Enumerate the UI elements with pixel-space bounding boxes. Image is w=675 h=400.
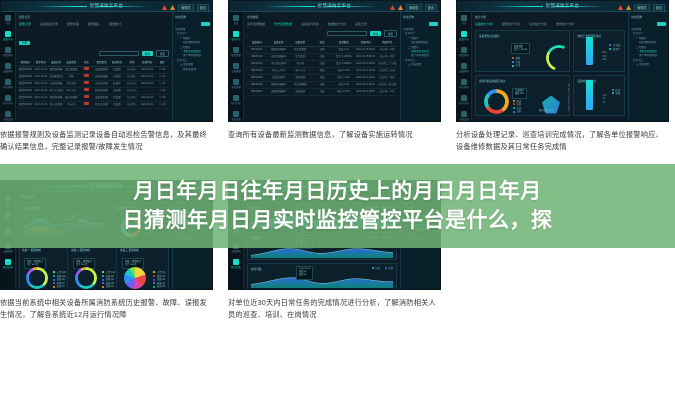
cell: 2021-03-15 08:21	[356, 61, 376, 67]
col-0: 设备编号	[247, 40, 267, 46]
col-6: 所属单位	[377, 40, 397, 46]
legend-swatch	[53, 279, 55, 281]
col-1: 发生时间	[34, 60, 47, 66]
cell: 2021-03-11 10:45	[141, 74, 154, 80]
donut-chart	[75, 267, 97, 289]
cell: 2021-03-13 16:18	[141, 102, 154, 108]
table-row[interactable]: SB000001 烟感探测器01 独立式烟感 在线 浓度 0.12 2021-0…	[247, 47, 397, 54]
sidebar-item-2[interactable]: 报警管理	[230, 47, 243, 57]
tab-3[interactable]: 报警确认	[88, 22, 100, 26]
area-chart	[251, 275, 393, 288]
cell: 2021-03-15 08:20	[356, 47, 376, 53]
cell: 2021-03-12 09:12	[141, 81, 154, 87]
card-caption: 分析设备处理记录、巡查培训完成情况，了解各单位报警响应、设备维修数据及其日常任务…	[456, 129, 669, 152]
donut-legend: 火警 182 故障 118 误报 96 屏蔽 52 监管 34	[53, 271, 66, 289]
status-pill	[84, 81, 89, 84]
cell: 2021-03-11 10:21	[141, 67, 154, 73]
bar-legend: 在线 离线	[612, 89, 620, 96]
cell: 压力 0.42MPa	[334, 54, 354, 60]
cell: 电流 0.00A	[334, 68, 354, 74]
sidebar-item-4[interactable]: 单位管理	[2, 79, 15, 89]
legend-swatch	[609, 48, 611, 50]
screenshot-alarm-rules: 智慧消防云平台 管理员 退出 首页 监控中心 报警管理 设备管理 单位管理 统计…	[0, 0, 213, 122]
breadcrumb: 统计分析	[475, 15, 625, 19]
table-row[interactable]: SB000003 消火栓监测03 消火栓 在线 压力 0.38MPa 2021-…	[247, 61, 397, 68]
sidebar-item-2[interactable]: 报警管理	[458, 47, 471, 57]
legend-swatch	[153, 286, 155, 288]
sidebar-item-1[interactable]: 监控中心	[458, 31, 471, 41]
screenshot-statistics: 智慧消防云平台 管理员 退出 首页 监控中心 报警管理 设备管理 单位管理 统计…	[456, 0, 669, 122]
pie-legend: 火警 96 故障 62 误报 48 屏蔽 34 监管 28	[153, 271, 165, 289]
legend-swatch	[513, 103, 515, 105]
status-pill	[84, 67, 89, 70]
search-button[interactable]: 搜索	[142, 51, 153, 56]
article-card-alarm-rules: 智慧消防云平台 管理员 退出 首页 监控中心 报警管理 设备管理 单位管理 统计…	[0, 0, 213, 172]
panel-title: 设备类型占比统计	[479, 34, 566, 38]
sidebar-item-3[interactable]: 设备管理	[2, 63, 15, 73]
tab-bar[interactable]: 报警记录 设备巡检记录 报警处理 报警确认 报警统计	[19, 22, 169, 26]
sidebar-item-2[interactable]: 报警管理	[2, 47, 15, 57]
home-icon	[233, 15, 239, 21]
cell: 温度监测	[290, 89, 310, 95]
breadcrumb: 报警记录	[19, 15, 169, 19]
gear-icon	[233, 111, 239, 117]
table-row[interactable]: SB000004 电气火灾04 电气火灾 离线 电流 0.00A 2021-03…	[247, 68, 397, 75]
alarm-table: 报警编号 发生时间 设备名称 设备类型 状态 报警类型 处理状态 单位 处理时间…	[19, 60, 169, 109]
tree-expand-button[interactable]	[201, 22, 210, 26]
legend-swatch	[53, 275, 55, 277]
cell: 独立式烟感	[290, 47, 310, 53]
legend-swatch	[53, 271, 55, 273]
tab-2[interactable]: 报警处理	[67, 22, 79, 26]
status-pill	[84, 102, 89, 105]
cell: 分公司三 泵房	[377, 75, 397, 81]
sidebar-item-6[interactable]: 系统设置	[230, 111, 243, 121]
warning-triangle-icon[interactable]	[398, 5, 403, 10]
tab-bar[interactable]: 实时监测数据 历史监测数据 设备运行状态 数据统计分析 采集日志	[247, 22, 397, 26]
tree-panel-header: 单位结构	[175, 15, 210, 19]
col-8: 处理时间	[141, 60, 154, 66]
legend-swatch	[102, 286, 104, 288]
sidebar-item-5[interactable]: 统计分析	[2, 95, 15, 105]
col-3: 设备类型	[65, 60, 78, 66]
topbar-chip-user[interactable]: 管理员	[634, 4, 650, 12]
panel-system-breakdown: 系统一 报警构成 系统一 报警统计 合计 482 次 火警 182 故障 118…	[19, 245, 169, 290]
status-badge	[80, 81, 93, 87]
tree-panel-title: 单位结构	[175, 15, 186, 19]
headline-overlay-band: 月日年月日往年月日历史上的月日月日年月 日猜测年月日月实时监控管控平台是什么，探	[0, 164, 675, 248]
cell: 2021-03-15 08:20	[356, 54, 376, 60]
tab-0[interactable]: 报警记录	[19, 22, 31, 26]
cell: 2021-03-12	[34, 81, 47, 87]
table-row[interactable]: 报警000005 2021-03-13 烟感探测器 独立式烟感 设备通讯故障 已…	[19, 95, 169, 102]
alarm-triangle-icon[interactable]	[390, 5, 395, 10]
cell: 报警000006	[19, 102, 32, 108]
statistics-panel-grid: 设备类型占比统计 设备总数 合计 1,284 台 烟感 手报 水压	[475, 30, 625, 116]
unit-tree-panel: 单位结构 全部单位 分公司一 一号楼宇 A区消防控制室 二号楼宇 消防泵房监测点…	[628, 12, 668, 121]
search-toolbar: 搜索 重置	[19, 50, 169, 57]
cell: 压力监测	[290, 54, 310, 60]
cell: 消火栓监测	[49, 102, 62, 108]
panel-title: 维修工单处理量 统计	[577, 34, 621, 38]
tree-panel-title: 单位结构	[631, 15, 642, 19]
main-content: 监测数据 实时监测数据 历史监测数据 设备运行状态 数据统计分析 采集日志 查询…	[244, 12, 400, 121]
col-3: 状态	[312, 40, 332, 46]
tab-0[interactable]: 实时监测数据	[247, 22, 265, 26]
cell: 离线	[312, 68, 332, 74]
legend-swatch	[372, 267, 374, 269]
article-card-statistics: 智慧消防云平台 管理员 退出 首页 监控中心 报警管理 设备管理 单位管理 统计…	[456, 0, 669, 172]
legend-swatch	[612, 89, 614, 91]
table-row[interactable]: SB000002 水压传感器02 压力监测 在线 压力 0.42MPa 2021…	[247, 54, 397, 61]
gear-icon	[461, 111, 467, 117]
tab-1[interactable]: 设备巡检记录	[40, 22, 58, 26]
cell: 报警000004	[19, 88, 32, 94]
bell-icon	[5, 47, 11, 53]
legend-swatch	[153, 282, 155, 284]
cell: 设备离线报警	[95, 74, 108, 80]
cell: 已处理	[110, 67, 123, 73]
alarm-triangle-icon[interactable]	[618, 5, 623, 10]
sidebar-item-3[interactable]: 设备管理	[458, 63, 471, 73]
bar-axis-labels: 600 400 200	[602, 51, 606, 62]
legend-swatch	[612, 92, 614, 94]
legend-swatch	[512, 65, 514, 67]
tab-2[interactable]: 设备运行状态	[301, 22, 319, 26]
cell: 分公司二	[125, 81, 138, 87]
sidebar-item-0[interactable]: 首页	[458, 15, 471, 25]
subpanel-system-2: 系统二 报警构成 系统二 报警统计 合计 356 次 火警 142 故障 88 …	[71, 248, 117, 290]
chart-tooltip: 2021-03-15 应到 45 实到 43	[296, 266, 313, 280]
monitor-icon	[461, 31, 467, 37]
pie-chart	[484, 45, 508, 69]
cell: 2021-03-11	[34, 74, 47, 80]
card-caption: 查询所有设备最新监测数据信息，了解设备实施运转情况	[228, 129, 441, 141]
legend-swatch	[512, 57, 514, 59]
table-header-row: 设备编号 设备名称 设备类型 状态 监测数值 采集时间 所属单位	[247, 40, 397, 47]
table-row[interactable]: 报警000001 2021-03-11 烟感探测器 独立式烟感 设备故障报警 已…	[19, 67, 169, 74]
topbar-chip-user[interactable]: 管理员	[178, 4, 194, 12]
mini-chart-label-0: 联动设备 统计	[539, 109, 554, 113]
bar-legend: 已完成 处理中	[609, 44, 620, 51]
cell: 2021-03-13 14:05	[141, 95, 154, 101]
tree-panel-header: 单位结构	[631, 15, 666, 19]
cell: 已处理	[110, 95, 123, 101]
cell: 2021-03-15 08:21	[356, 68, 376, 74]
donut-chart	[484, 89, 509, 114]
cell: 手动报警按钮	[49, 74, 62, 80]
legend-swatch	[513, 111, 515, 113]
main-content: 报警记录 报警记录 设备巡检记录 报警处理 报警确认 报警统计 新增 搜索 重置…	[16, 12, 172, 121]
cell: SB000007	[247, 89, 267, 95]
table-row[interactable]: 报警000002 2021-03-11 手动报警按钮 手报 设备离线报警 已处理…	[19, 74, 169, 81]
topbar-chip-logout[interactable]: 退出	[653, 4, 665, 12]
home-icon	[5, 15, 11, 21]
tree-expand-button[interactable]	[429, 22, 438, 26]
panel-title: 系统三 报警构成	[120, 248, 166, 252]
search-input[interactable]	[99, 51, 139, 56]
sidebar-item-5[interactable]: 统计分析	[2, 259, 15, 269]
topbar-actions: 管理员 退出	[618, 4, 665, 12]
table-row[interactable]: 报警000004 2021-03-12 电气火灾探测 电气火灾 剩余电流报警 未…	[19, 88, 169, 95]
legend-swatch	[153, 271, 155, 273]
card-caption: 对单位近30天内日常任务的完成情况进行分析，了解消防相关人员的巡查、培训、在岗情…	[228, 297, 441, 320]
cell: 分公司三	[125, 95, 138, 101]
sidebar-item-6[interactable]: 系统设置	[2, 111, 15, 121]
cell	[141, 88, 154, 94]
chart-icon	[461, 95, 467, 101]
sidebar-nav[interactable]: 首页 监控中心 报警管理 设备管理 单位管理 统计分析 系统设置	[1, 12, 16, 121]
pie-chart	[124, 267, 146, 289]
cell: 在线	[312, 54, 332, 60]
sidebar-item-4[interactable]: 单位管理	[230, 79, 243, 89]
status-badge	[80, 88, 93, 94]
cell: 2021-03-15 08:23	[356, 89, 376, 95]
cell: 电气火灾	[290, 68, 310, 74]
col-0: 报警编号	[19, 60, 32, 66]
sidebar-item-6[interactable]: 系统设置	[458, 111, 471, 121]
breadcrumb: 监测数据	[247, 15, 397, 19]
cell: 设备故障报警	[95, 67, 108, 73]
cell: 分公司二 三号楼	[377, 61, 397, 67]
cell: 烟感探测器01	[269, 47, 289, 53]
sidebar-nav[interactable]: 首页 监控中心 报警管理 设备管理 单位管理 统计分析 系统设置	[229, 12, 244, 121]
status-badge	[80, 74, 93, 80]
table-row[interactable]: SB000007 温感探测器07 温度监测 在线 温度 24.6℃ 2021-0…	[247, 89, 397, 96]
cell: SB000006	[247, 82, 267, 88]
cell: 液位监测05	[269, 75, 289, 81]
reset-button[interactable]: 重置	[384, 30, 397, 37]
status-pill	[84, 95, 89, 98]
panel-repair-bar: 维修工单处理量 统计 600 400 200 已完成 处理中	[573, 30, 625, 72]
status-badge	[80, 102, 93, 108]
col-5: 采集时间	[356, 40, 376, 46]
col-2: 设备名称	[49, 60, 62, 66]
cell: 消火栓	[65, 102, 78, 108]
legend-swatch	[53, 286, 55, 288]
table-row[interactable]: 报警000003 2021-03-12 水压传感器 压力监测 水压异常报警 处理…	[19, 81, 169, 88]
bar-column	[586, 37, 593, 65]
tab-bar[interactable]: 设备统计分析 报警统计分析 任务统计分析 维修统计分析	[475, 22, 625, 26]
donut-legend: 火警 142 故障 88 误报 66 屏蔽 38 监管 22	[102, 271, 115, 289]
cell: 已处理	[110, 102, 123, 108]
panel-title: 系统二 报警构成	[71, 248, 116, 252]
cell: 在线	[312, 47, 332, 53]
monitor-icon	[233, 31, 239, 37]
cell: 未处理	[110, 88, 123, 94]
cell: 压力过低报警	[95, 102, 108, 108]
main-content: 统计分析 设备统计分析 报警统计分析 任务统计分析 维修统计分析 设备类型占比统…	[472, 12, 628, 121]
building-icon	[5, 79, 11, 85]
search-input[interactable]	[327, 31, 367, 36]
cell: 电气火灾探测	[49, 88, 62, 94]
col-9: 操作	[156, 60, 169, 66]
cell: 压力监测	[65, 81, 78, 87]
mini-chart-label-1: 值班人员在岗 统计	[568, 84, 570, 113]
app-topbar: 智慧消防云平台 管理员 退出	[1, 1, 212, 12]
sidebar-item-1[interactable]: 监控中心	[230, 31, 243, 41]
topbar-decor-left	[35, 6, 87, 7]
row-actions[interactable]: ✎ ⌫	[156, 74, 169, 80]
cell: 设备通讯故障	[95, 95, 108, 101]
sidebar-item-0[interactable]: 首页	[2, 15, 15, 25]
row-actions[interactable]: ✎ ⌫	[156, 95, 169, 101]
cell: 分公司一 C区	[377, 89, 397, 95]
device-icon	[233, 63, 239, 69]
tree-panel-header: 单位结构	[403, 15, 438, 19]
col-6: 处理状态	[110, 60, 123, 66]
cell: 2021-03-15 08:22	[356, 75, 376, 81]
table-header-row: 报警编号 发生时间 设备名称 设备类型 状态 报警类型 处理状态 单位 处理时间…	[19, 60, 169, 67]
tree-node[interactable]: 办公区监测	[175, 68, 210, 72]
tab-3[interactable]: 数据统计分析	[328, 22, 346, 26]
screenshot-device-monitoring: 智慧消防云平台 管理员 退出 首页 监控中心 报警管理 设备管理 单位管理 统计…	[228, 0, 441, 122]
cell: 处理中	[110, 81, 123, 87]
tree-expand-button[interactable]	[657, 22, 666, 26]
sidebar-item-0[interactable]: 首页	[230, 15, 243, 25]
col-4: 监测数值	[334, 40, 354, 46]
bell-icon	[461, 47, 467, 53]
app-topbar: 智慧消防云平台 管理员 退出	[457, 1, 668, 12]
app-title: 智慧消防云平台	[318, 3, 352, 9]
warning-triangle-icon[interactable]	[170, 5, 175, 10]
search-toolbar: 查询 重置	[247, 30, 397, 37]
topbar-decor-left	[491, 6, 543, 7]
cell: 在线	[312, 61, 332, 67]
topbar-chip-logout[interactable]: 退出	[197, 4, 209, 12]
cell: 在线	[312, 82, 332, 88]
topbar-actions: 管理员 退出	[162, 4, 209, 12]
row-actions[interactable]: ✎ ⌫	[156, 88, 169, 94]
legend-swatch	[53, 282, 55, 284]
cell: SB000004	[247, 68, 267, 74]
tab-0[interactable]: 设备统计分析	[475, 22, 493, 26]
panel-training-donut: 巡查培训完成情况 统计 完成情况 巡查 86% 巡查 培训 在岗 其他	[475, 75, 570, 117]
legend-swatch	[153, 279, 155, 281]
page-title: 月日年月日往年月日历史上的月日月日年月 日猜测年月日月实时监控管控平台是什么，探	[121, 177, 555, 235]
warning-triangle-icon[interactable]	[626, 5, 631, 10]
series-legend: 应到 实到	[372, 267, 393, 271]
legend-swatch	[102, 271, 104, 273]
row-actions[interactable]: ✎ ⌫	[156, 102, 169, 108]
sidebar-item-4[interactable]: 单位管理	[458, 79, 471, 89]
device-icon	[461, 63, 467, 69]
card-caption: 依据当前系统中相关设备所属消防系统历史报警、故障、误报发生情况，了解各系统近12…	[0, 297, 213, 320]
legend-swatch	[513, 100, 515, 102]
pie-legend: 烟感 手报 水压	[512, 57, 520, 68]
col-1: 设备名称	[269, 40, 289, 46]
tree-node[interactable]: 三号综合楼	[631, 63, 666, 67]
topbar-chip-user[interactable]: 管理员	[406, 4, 422, 12]
cell: 烟感探测器	[49, 67, 62, 73]
legend-swatch	[153, 275, 155, 277]
tab-1[interactable]: 报警统计分析	[502, 22, 520, 26]
panel-device-type-pie: 设备类型占比统计 设备总数 合计 1,284 台 烟感 手报 水压	[475, 30, 570, 72]
sidebar-item-5[interactable]: 统计分析	[230, 95, 243, 105]
status-pill	[84, 74, 89, 77]
cell: 2021-03-13	[34, 102, 47, 108]
panel-title: 设备在线率 统计	[577, 79, 621, 83]
sidebar-item-3[interactable]: 设备管理	[230, 63, 243, 73]
legend-swatch	[609, 44, 611, 46]
col-5: 报警类型	[95, 60, 108, 66]
tab-4[interactable]: 采集日志	[355, 22, 367, 26]
cell: SB000005	[247, 75, 267, 81]
tree-panel-title: 单位结构	[403, 15, 414, 19]
chart-icon	[233, 95, 239, 101]
alarm-triangle-icon[interactable]	[162, 5, 167, 10]
topbar-decor-left	[263, 6, 315, 7]
tab-2[interactable]: 任务统计分析	[529, 22, 547, 26]
cell: SB000001	[247, 47, 267, 53]
cell: 2021-03-15 08:22	[356, 82, 376, 88]
cell: 电气火灾	[65, 88, 78, 94]
chart-tooltip: 设备总数 合计 1,284 台	[511, 43, 530, 54]
home-icon	[461, 15, 467, 21]
table-row[interactable]: SB000006 烟感探测器06 独立式烟感 在线 浓度 0.08 2021-0…	[247, 82, 397, 89]
sidebar-nav[interactable]: 首页 监控中心 报警管理 设备管理 单位管理 统计分析 系统设置	[457, 12, 472, 121]
tree-node[interactable]: 三号综合楼	[403, 63, 438, 67]
tab-3[interactable]: 维修统计分析	[556, 22, 574, 26]
building-icon	[233, 79, 239, 85]
row-actions[interactable]: ✎ ⌫	[156, 67, 169, 73]
subpanel-system-1: 系统一 报警构成 系统一 报警统计 合计 482 次 火警 182 故障 118…	[22, 248, 68, 290]
card-caption: 依据报警规则及设备监测记录设备自动巡检告警信息，及其最终确认结果信息，完整记录报…	[0, 129, 213, 152]
tab-1[interactable]: 历史监测数据	[274, 22, 292, 26]
cell: 水压传感器	[49, 81, 62, 87]
donut-chart	[26, 267, 48, 289]
sidebar-item-5[interactable]: 统计分析	[230, 259, 243, 269]
cell: 报警000003	[19, 81, 32, 87]
monitor-icon	[5, 31, 11, 37]
cell: 压力 0.38MPa	[334, 61, 354, 67]
cell: 消火栓	[290, 61, 310, 67]
panel-title: 系统一 报警构成	[22, 248, 67, 252]
topbar-chip-logout[interactable]: 退出	[425, 4, 437, 12]
cell: 已处理	[110, 74, 123, 80]
cell: 温度 24.6℃	[334, 89, 354, 95]
sidebar-item-1[interactable]: 监控中心	[2, 31, 15, 41]
status-pill	[84, 88, 89, 91]
gear-icon	[5, 111, 11, 117]
legend-swatch	[102, 282, 104, 284]
chart-icon	[5, 259, 11, 265]
unit-tree-panel: 单位结构 全部单位 分公司一 一号楼宇 A区消防控制室 二号楼宇 消防泵房监测点…	[172, 12, 212, 121]
cell: SB000002	[247, 54, 267, 60]
cell: 报警000002	[19, 74, 32, 80]
gauge-chart-outer	[542, 41, 570, 72]
chart-icon	[5, 95, 11, 101]
cell: 温感探测器07	[269, 89, 289, 95]
device-table: 设备编号 设备名称 设备类型 状态 监测数值 采集时间 所属单位 SB00000…	[247, 40, 397, 96]
search-button[interactable]: 查询	[370, 31, 381, 36]
bar-axis-labels: 100 75 50	[602, 94, 606, 105]
cell: 独立式烟感	[290, 82, 310, 88]
cell: 分公司三 办公区	[377, 82, 397, 88]
col-2: 设备类型	[290, 40, 310, 46]
add-button[interactable]: 新增	[19, 41, 30, 45]
cell: 报警000001	[19, 67, 32, 73]
table-row[interactable]: 报警000006 2021-03-13 消火栓监测 消火栓 压力过低报警 已处理…	[19, 102, 169, 109]
row-actions[interactable]: ✎ ⌫	[156, 81, 169, 87]
table-row[interactable]: SB000005 液位监测05 液位监测 在线 液位 2.15m 2021-03…	[247, 75, 397, 82]
sidebar-item-5[interactable]: 统计分析	[458, 95, 471, 105]
cell: 手报	[65, 74, 78, 80]
reset-button[interactable]: 重置	[156, 50, 169, 57]
building-icon	[461, 79, 467, 85]
tab-4[interactable]: 报警统计	[109, 22, 121, 26]
cell: 2021-03-11	[34, 67, 47, 73]
